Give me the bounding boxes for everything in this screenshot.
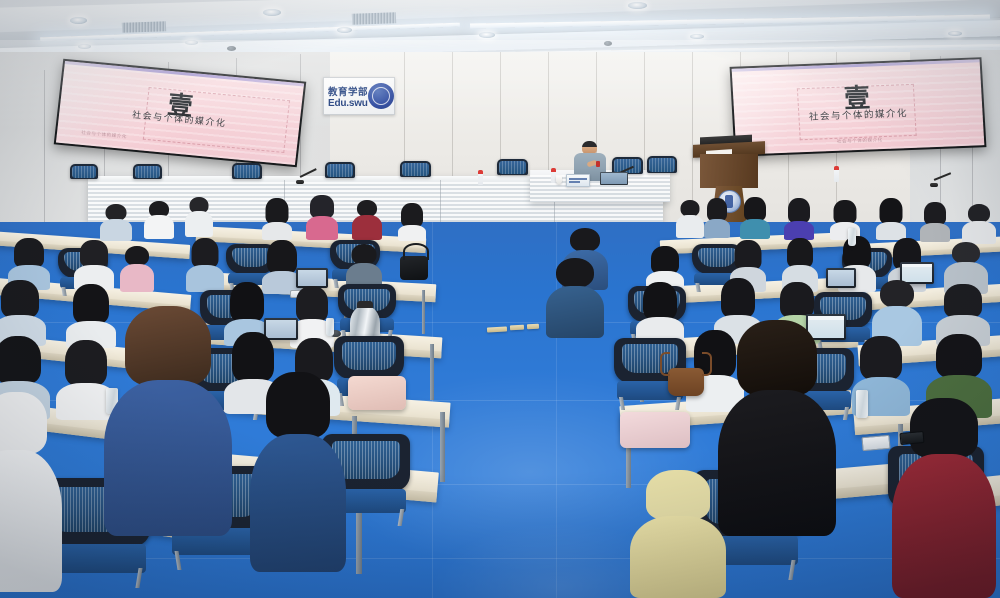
audience-person [120,246,154,292]
downlight-icon [337,27,352,33]
sign-text-cn: 教育学部 [328,84,368,98]
audience-person [676,200,704,238]
travel-tumbler [856,390,868,418]
audience-person [636,282,684,344]
smartphone[interactable] [900,431,925,445]
audience-person-foreground [250,372,346,572]
black-backpack [400,256,428,280]
travel-tumbler [326,318,334,336]
stage-chair[interactable] [70,164,98,179]
name-placard [566,174,590,187]
projection-screen-right: 壹 社会与个体的媒介化 社会与个体的媒介化 [730,57,987,157]
audience-person [186,238,224,292]
air-vent [122,21,166,33]
desk-leg [422,290,425,334]
downlight-icon [263,9,281,16]
audience-person [784,198,814,240]
audience-person [185,197,213,237]
speaker-laptop[interactable] [600,172,628,185]
downlight-icon [70,17,87,24]
downlight-icon [479,32,495,38]
stage-chair[interactable] [325,162,355,178]
laptop[interactable] [296,268,328,288]
department-sign: 教育学部 Edu.swu [323,77,395,115]
audience-person [546,258,604,338]
floor-marker [510,325,524,331]
laptop[interactable] [826,268,856,288]
audience-person [352,200,382,240]
audience-person [100,204,132,240]
water-bottle [478,170,483,185]
microphone-base [930,183,938,187]
paper-cup [556,176,562,184]
water-bottle [834,166,839,182]
brown-handbag [668,368,704,396]
audience-person [876,198,906,240]
audience-person [398,203,426,241]
travel-tumbler [848,228,856,246]
smartphone[interactable] [861,435,890,451]
lecture-hall-photo: 壹 社会与个体的媒介化 社会与个体的媒介化 壹 社会与个体的媒介化 社会与个体的… [0,0,1000,598]
audience-person [962,204,996,244]
downlight-icon [948,31,962,36]
audience-person [704,198,730,238]
microphone-base [296,180,304,184]
stage-chair[interactable] [497,159,528,175]
pink-laptop-sleeve [620,412,690,448]
pink-bag [348,376,406,410]
lectern-body [700,154,758,188]
sign-text-en: Edu.swu [328,98,368,109]
audience-person [262,198,292,240]
audience-person [306,195,338,240]
air-vent [352,12,396,25]
red-badge [596,161,600,167]
downlight-icon [78,44,91,49]
ceiling-speaker [227,46,236,51]
stage-chair[interactable] [133,164,162,179]
desk-leg [440,412,445,482]
stage-chair[interactable] [647,156,677,173]
audience-person [74,240,114,290]
downlight-icon [690,34,704,39]
audience-person-foreground [630,470,726,598]
audience-person-foreground [892,398,996,598]
stage-chair[interactable] [400,161,431,177]
floor-marker [527,324,539,330]
downlight-icon [185,40,198,45]
audience-person [920,202,950,242]
audience-person [144,201,174,239]
university-seal-icon [368,83,394,109]
audience-person-foreground [718,320,836,536]
ceiling-speaker [604,41,612,46]
stage-chair[interactable] [232,163,262,179]
audience-person [740,197,770,239]
audience-person-foreground [104,306,232,536]
audience-person-foreground [0,392,62,592]
floor-marker [487,326,507,332]
downlight-icon [628,2,647,9]
desk-leg [430,344,434,400]
